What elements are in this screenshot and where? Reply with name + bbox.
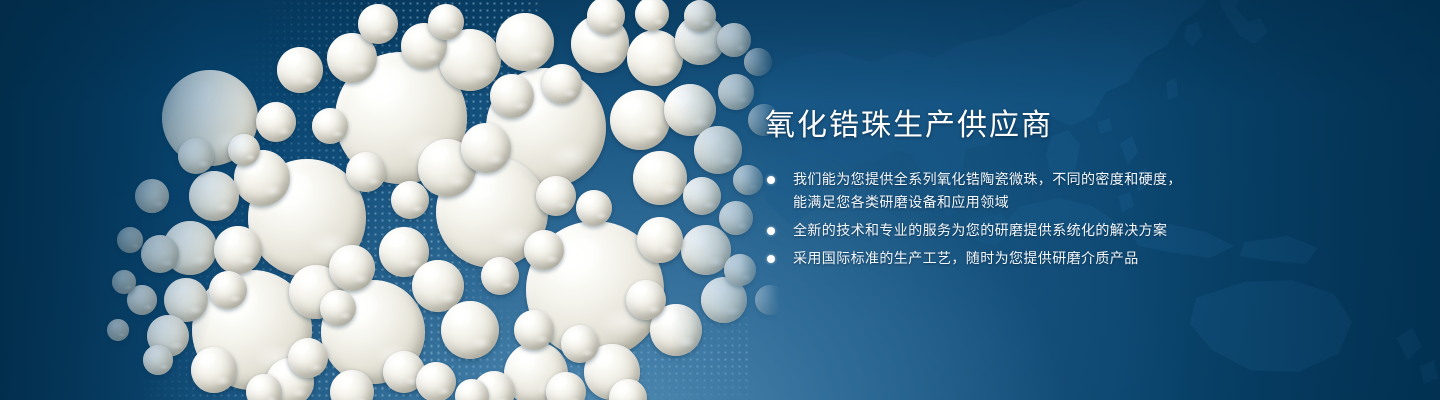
hero-banner: 氧化锆珠生产供应商 我们能为您提供全系列氧化锆陶瓷微珠，不同的密度和硬度， 能满…: [0, 0, 1440, 400]
list-item-line1: 我们能为您提供全系列氧化锆陶瓷微珠，不同的密度和硬度，: [793, 171, 1182, 187]
bullet-dot-icon: [767, 227, 775, 235]
page-title: 氧化锆珠生产供应商: [765, 106, 1385, 146]
list-item: 采用国际标准的生产工艺，随时为您提供研磨介质产品: [765, 247, 1385, 270]
bullet-dot-icon: [767, 176, 775, 184]
list-item: 全新的技术和专业的服务为您的研磨提供系统化的解决方案: [765, 219, 1385, 242]
bullet-dot-icon: [767, 255, 775, 263]
list-item-line2: 能满足您各类研磨设备和应用领域: [793, 191, 1385, 214]
list-item-line1: 采用国际标准的生产工艺，随时为您提供研磨介质产品: [793, 250, 1139, 266]
list-item-line1: 全新的技术和专业的服务为您的研磨提供系统化的解决方案: [793, 222, 1167, 238]
feature-list: 我们能为您提供全系列氧化锆陶瓷微珠，不同的密度和硬度， 能满足您各类研磨设备和应…: [765, 168, 1385, 270]
list-item: 我们能为您提供全系列氧化锆陶瓷微珠，不同的密度和硬度， 能满足您各类研磨设备和应…: [765, 168, 1385, 214]
banner-copy: 氧化锆珠生产供应商 我们能为您提供全系列氧化锆陶瓷微珠，不同的密度和硬度， 能满…: [765, 106, 1385, 275]
